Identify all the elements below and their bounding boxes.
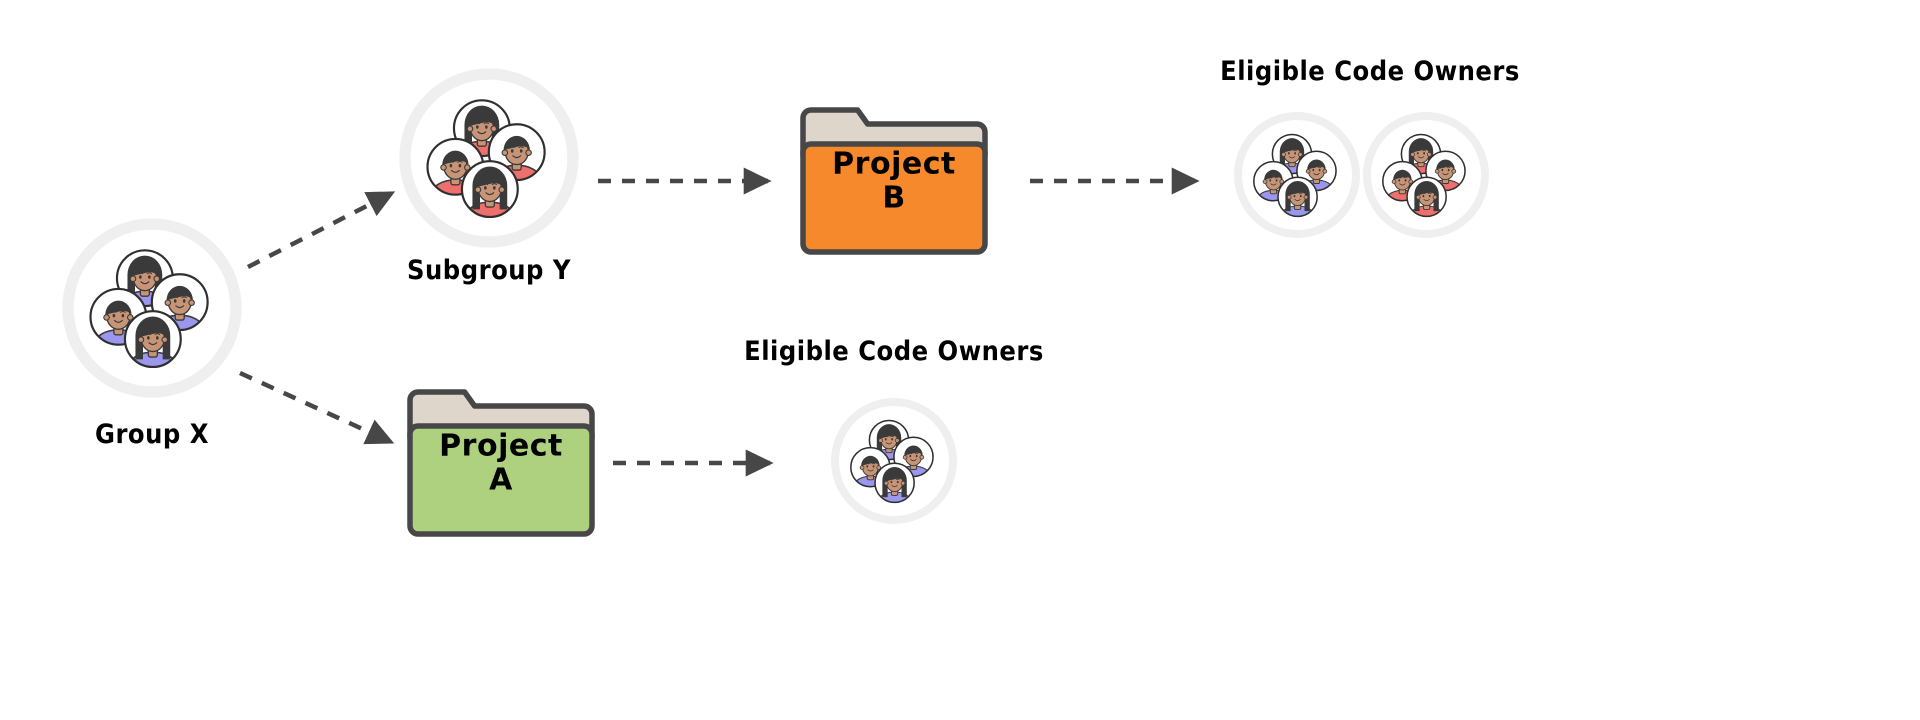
diagram-canvas: Group X Subgroup Y Project B Project A E…: [0, 0, 1920, 720]
people-group-icon: [835, 402, 953, 520]
owners-bottom-clusters[interactable]: [0, 0, 1920, 720]
